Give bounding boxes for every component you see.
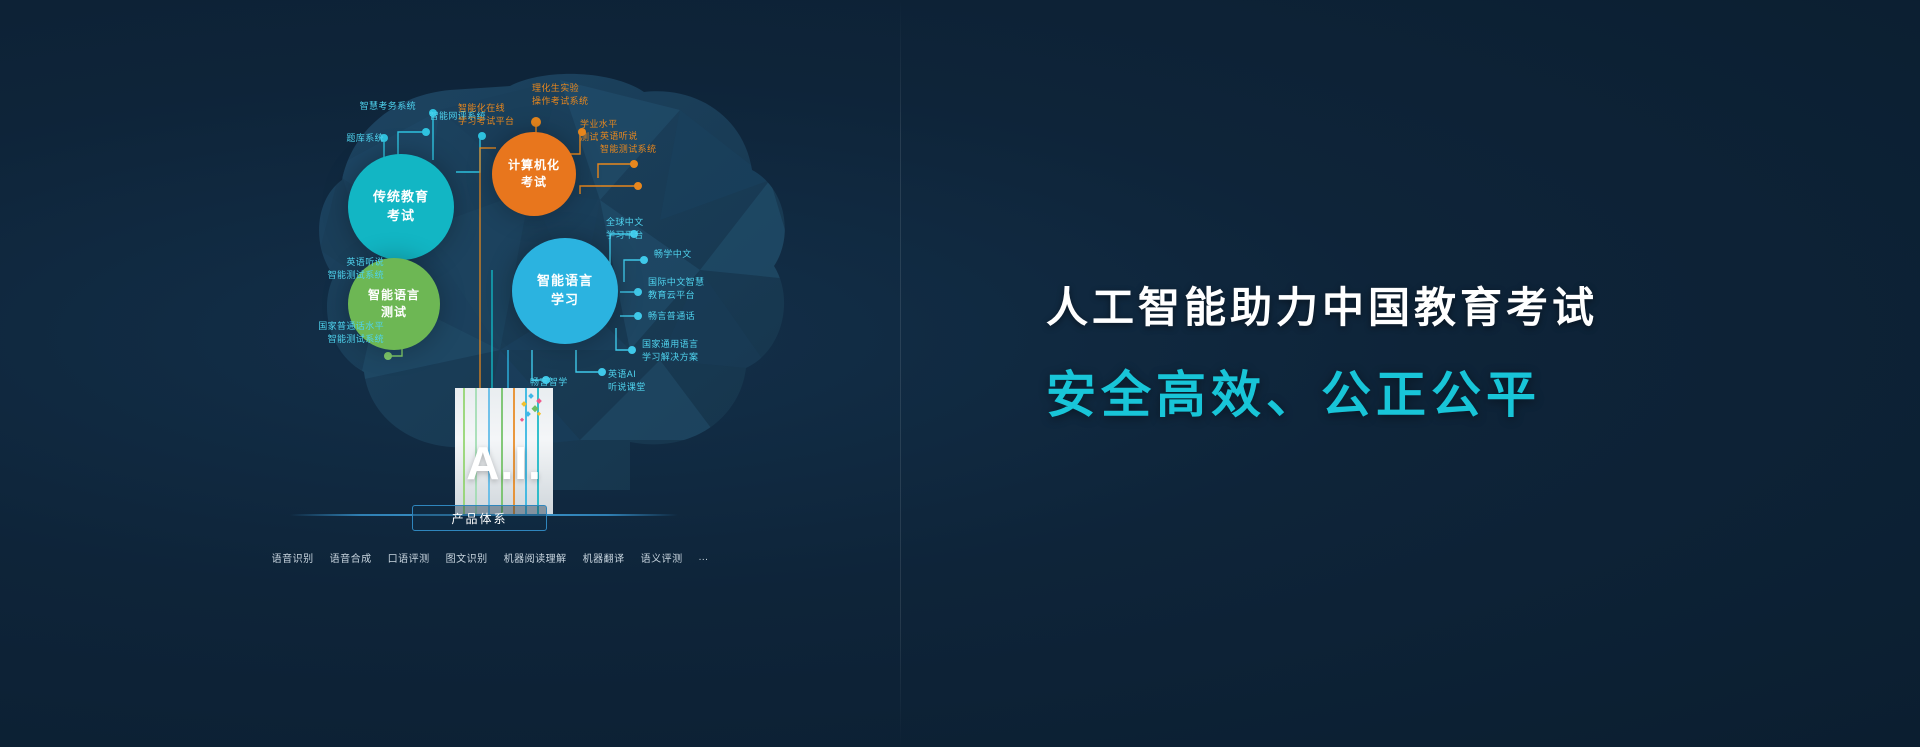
label-question-bank: 题库系统 <box>304 132 384 145</box>
tag-item[interactable]: 口语评测 <box>388 550 430 565</box>
capability-tag-list: 语音识别 语音合成 口语评测 图文识别 机器阅读理解 机器翻译 语义评测 ... <box>280 550 700 565</box>
node-smart-language-testing-label: 智能语言 测试 <box>368 287 420 322</box>
slide-banner: 传统教育 考试 计算机化 考试 智能语言 学习 智能语言 测试 智慧考务系统 题… <box>0 0 1920 747</box>
node-computerized-exam[interactable]: 计算机化 考试 <box>492 132 576 216</box>
node-traditional-exam-label: 传统教育 考试 <box>373 188 429 226</box>
vertical-divider <box>900 0 901 747</box>
label-english-ai-listening-speaking-class: 英语AI 听说课堂 <box>608 368 678 394</box>
tag-item[interactable]: 语义评测 <box>641 550 683 565</box>
label-changxue-chinese: 畅学中文 <box>654 248 728 261</box>
tag-item[interactable]: 机器翻译 <box>583 550 625 565</box>
tag-item[interactable]: 语音合成 <box>330 550 372 565</box>
node-computerized-exam-label: 计算机化 考试 <box>508 157 560 192</box>
label-english-listening-speaking-smart-test-sys: 英语听说 智能测试系统 <box>600 130 696 156</box>
label-global-chinese-learning-platform: 全球中文 学习平台 <box>606 216 690 242</box>
product-system-button[interactable]: 产品体系 <box>412 505 547 531</box>
label-intl-chinese-smart-edu-cloud: 国际中文智慧 教育云平台 <box>648 276 744 302</box>
label-science-lab-operation-exam: 理化生实验 操作考试系统 <box>532 82 622 108</box>
node-traditional-exam[interactable]: 传统教育 考试 <box>348 154 454 260</box>
ai-trunk: A.I. <box>455 388 553 516</box>
brain-diagram: 传统教育 考试 计算机化 考试 智能语言 学习 智能语言 测试 智慧考务系统 题… <box>280 20 880 747</box>
label-changyan-putonghua: 畅言普通话 <box>648 310 738 323</box>
headline-block: 人工智能助力中国教育考试 安全高效、公正公平 <box>1046 282 1598 425</box>
tag-item[interactable]: 语音识别 <box>272 550 314 565</box>
tag-item[interactable]: 图文识别 <box>446 550 488 565</box>
tag-item[interactable]: ... <box>699 552 709 563</box>
sparkle-icon <box>513 392 547 426</box>
label-english-listening-speaking-smart-test: 英语听说 智能测试系统 <box>296 256 384 282</box>
tag-item[interactable]: 机器阅读理解 <box>504 550 567 565</box>
product-system-label: 产品体系 <box>451 510 507 527</box>
headline-primary: 人工智能助力中国教育考试 <box>1046 282 1598 335</box>
headline-secondary: 安全高效、公正公平 <box>1046 365 1598 425</box>
label-national-putonghua-level-smart-test: 国家普通话水平 智能测试系统 <box>280 320 384 346</box>
node-smart-language-learning[interactable]: 智能语言 学习 <box>512 238 618 344</box>
node-smart-language-learning-label: 智能语言 学习 <box>537 272 593 310</box>
label-national-language-learning-solution: 国家通用语言 学习解决方案 <box>642 338 738 364</box>
ai-wordmark: A.I. <box>455 436 553 490</box>
